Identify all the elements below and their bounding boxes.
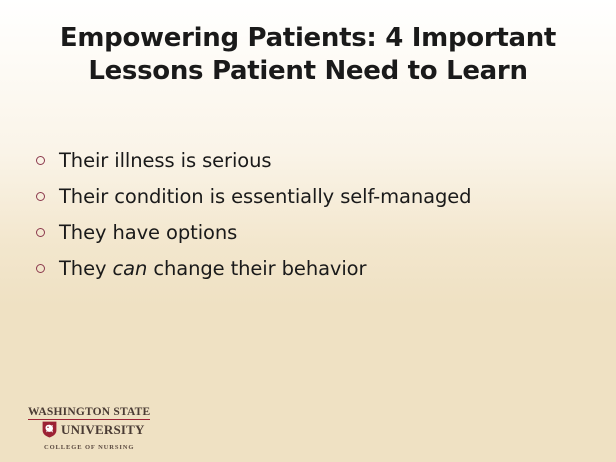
list-item: They can change their behavior: [36, 254, 596, 290]
list-item-label: Their condition is essentially self-mana…: [59, 182, 596, 212]
list-item-label: They have options: [59, 218, 596, 248]
cougar-shield-icon: [42, 421, 57, 438]
bullet-list: Their illness is serious Their condition…: [36, 146, 596, 290]
title-line-2: Lessons Patient Need to Learn: [34, 55, 582, 88]
circle-bullet-icon: [36, 228, 45, 237]
list-item-label: Their illness is serious: [59, 146, 596, 176]
circle-bullet-icon: [36, 192, 45, 201]
logo-university-text: UNIVERSITY: [61, 423, 145, 437]
slide-canvas: Empowering Patients: 4 Important Lessons…: [0, 0, 616, 462]
circle-bullet-icon: [36, 264, 45, 273]
list-item: Their illness is serious: [36, 146, 596, 182]
wsu-logo: WASHINGTON STATE UNIVERSITY COLLEGE OF N…: [28, 406, 188, 452]
list-item-label: They can change their behavior: [59, 254, 596, 284]
logo-washington-state-text: WASHINGTON STATE: [28, 406, 188, 418]
title-line-1: Empowering Patients: 4 Important: [34, 22, 582, 55]
list-item-text-pre: They have options: [59, 221, 237, 244]
list-item: They have options: [36, 218, 596, 254]
list-item-text-pre: They: [59, 257, 113, 280]
list-item-text-pre: Their condition is essentially self-mana…: [59, 185, 471, 208]
logo-divider-rule: [28, 419, 150, 420]
circle-bullet-icon: [36, 156, 45, 165]
logo-university-row: UNIVERSITY: [28, 421, 188, 438]
list-item: Their condition is essentially self-mana…: [36, 182, 596, 218]
page-title: Empowering Patients: 4 Important Lessons…: [0, 22, 616, 88]
logo-college-text: COLLEGE OF NURSING: [28, 444, 188, 452]
list-item-text-pre: Their illness is serious: [59, 149, 271, 172]
list-item-text-emphasis: can: [113, 257, 148, 280]
list-item-text-post: change their behavior: [147, 257, 366, 280]
